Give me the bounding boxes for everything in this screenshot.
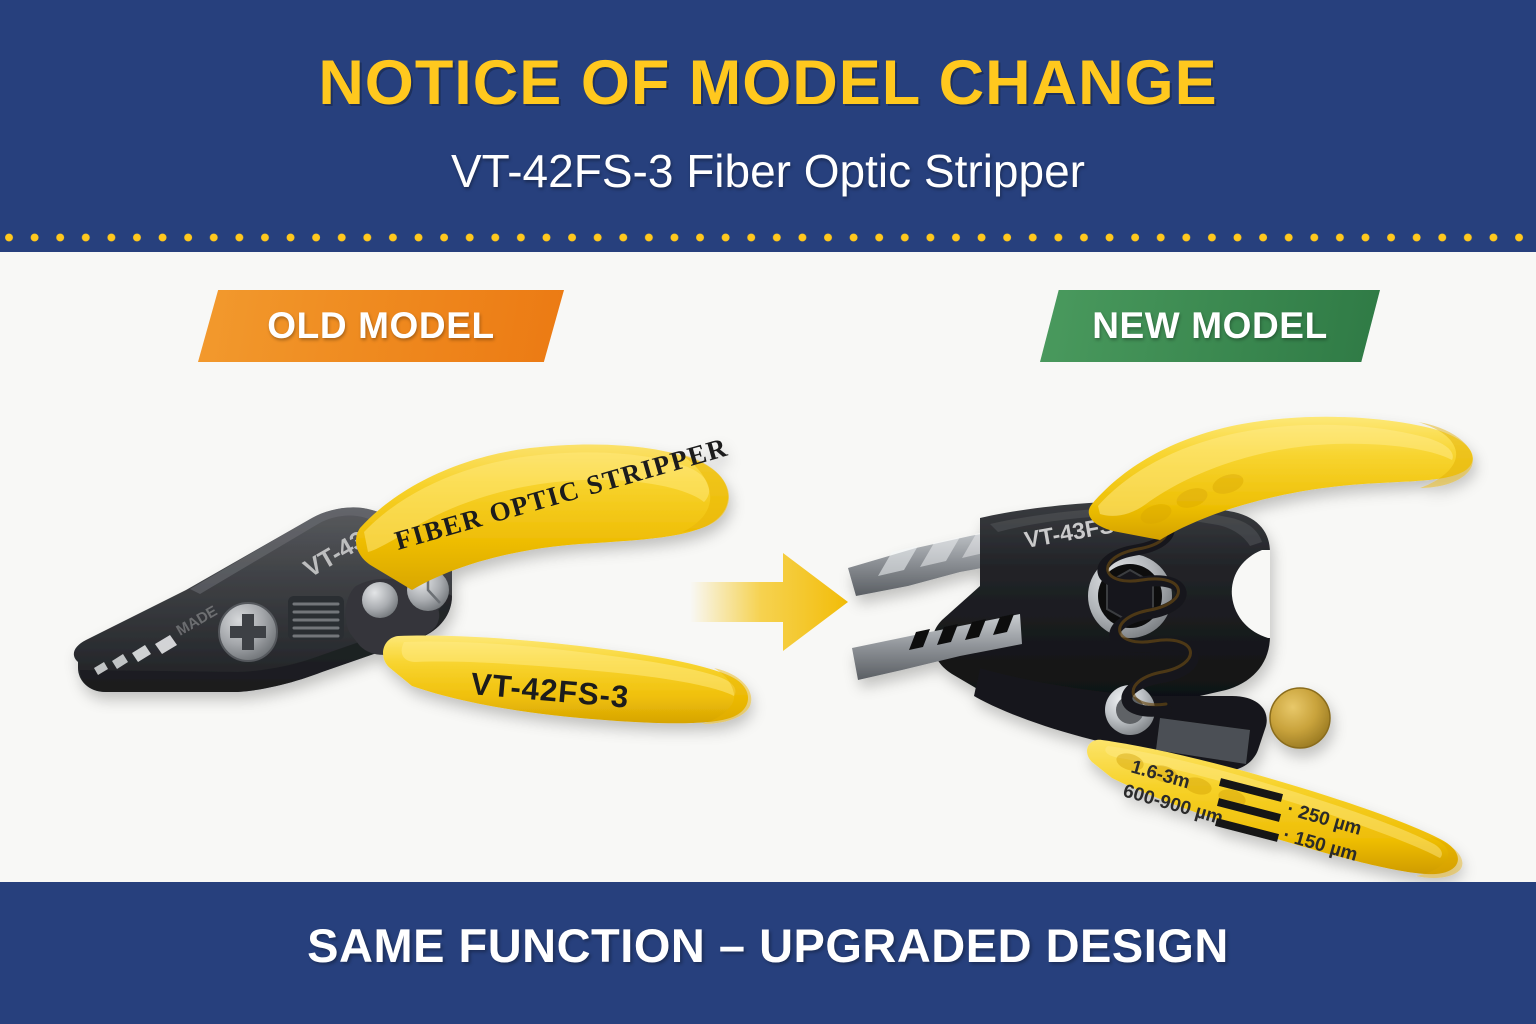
dotted-divider-dots — [5, 233, 1536, 242]
footer-tagline: SAME FUNCTION – UPGRADED DESIGN — [0, 918, 1536, 973]
page-subtitle: VT-42FS-3 Fiber Optic Stripper — [0, 145, 1536, 198]
new-model-tool-image: VT-43FS-3 — [830, 400, 1520, 860]
old-model-tool-image: VT-43FS-3 MADE FIBER OPTIC STRIPPER VT-4… — [60, 400, 780, 740]
header-band: NOTICE OF MODEL CHANGE VT-42FS-3 Fiber O… — [0, 0, 1536, 222]
badge-old-model: OLD MODEL — [198, 290, 564, 362]
dotted-divider — [0, 222, 1536, 252]
page-title: NOTICE OF MODEL CHANGE — [0, 52, 1536, 115]
badge-new-model: NEW MODEL — [1040, 290, 1380, 362]
badge-old-model-label: OLD MODEL — [267, 305, 494, 347]
poster-root: NOTICE OF MODEL CHANGE VT-42FS-3 Fiber O… — [0, 0, 1536, 1024]
footer-band: SAME FUNCTION – UPGRADED DESIGN — [0, 882, 1536, 1024]
badge-new-model-label: NEW MODEL — [1092, 305, 1328, 347]
